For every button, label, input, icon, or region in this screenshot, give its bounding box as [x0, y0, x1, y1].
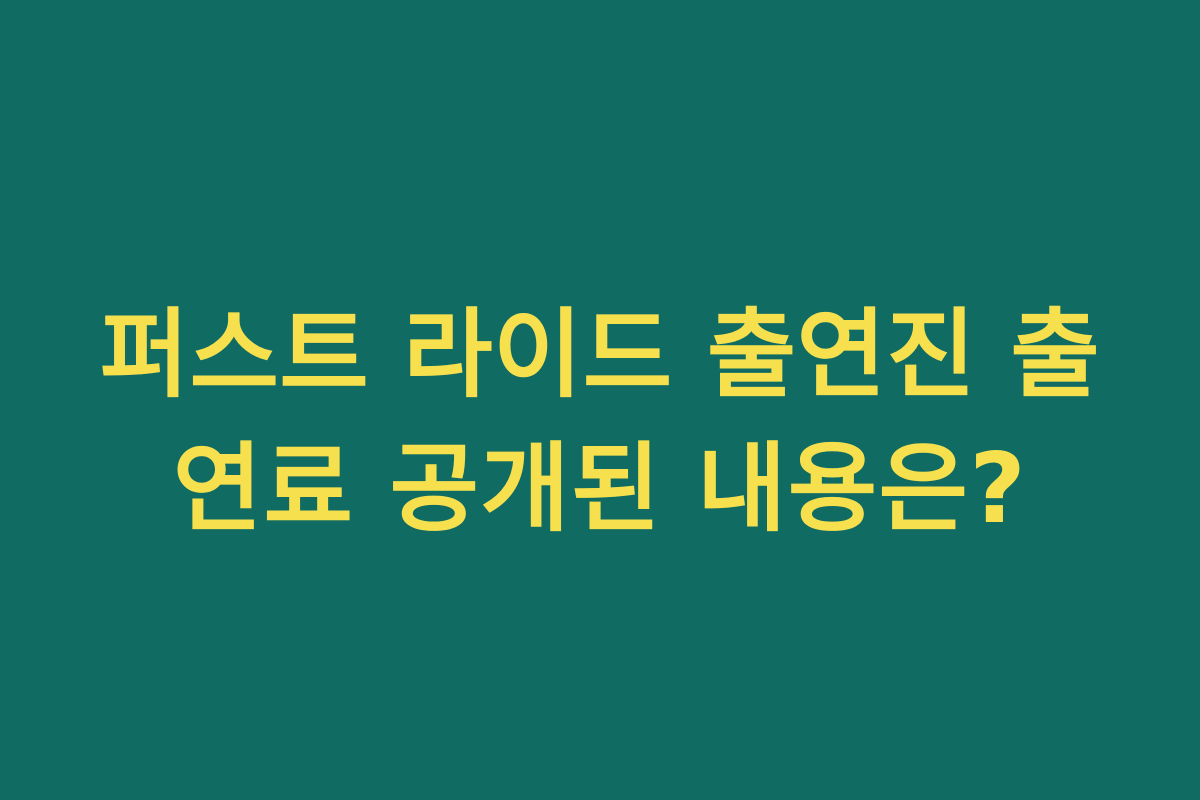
thumbnail-canvas: 퍼스트 라이드 출연진 출 연료 공개된 내용은? — [0, 0, 1200, 800]
headline-text-block: 퍼스트 라이드 출연진 출 연료 공개된 내용은? — [0, 288, 1200, 556]
headline-line-2: 연료 공개된 내용은? — [30, 422, 1170, 556]
headline-line-1: 퍼스트 라이드 출연진 출 — [30, 288, 1170, 422]
